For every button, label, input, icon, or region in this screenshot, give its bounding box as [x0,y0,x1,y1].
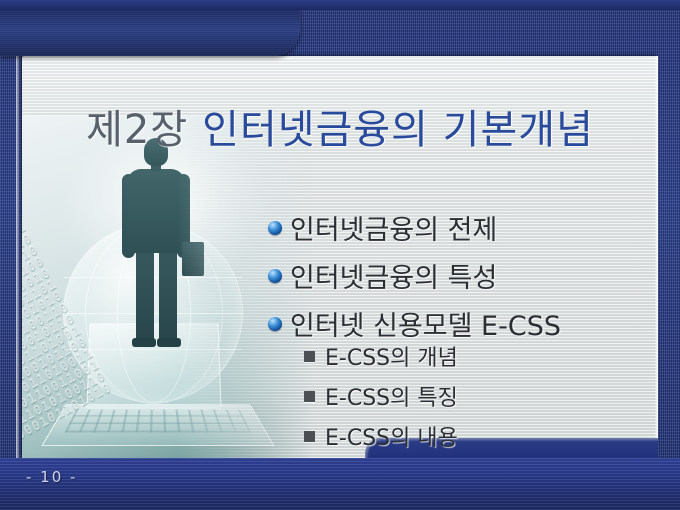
presentation-slide: 제1호 인터넷금융벤처-주) ## [0,0,680,510]
gray-square-bullet-icon [304,391,315,402]
blue-sphere-bullet-icon [268,269,282,283]
list-item[interactable]: 인터넷금융의 전제 [268,208,668,247]
gray-square-bullet-icon [304,351,315,362]
page-number: - 10 - [26,468,77,486]
bullet-list: 인터넷금융의 전제 인터넷금융의 특성 인터넷 신용모델 E-CSS [268,208,668,352]
list-item-label: 인터넷 신용모델 E-CSS [290,304,561,343]
blue-sphere-bullet-icon [268,317,282,331]
list-item[interactable]: E-CSS의 개념 [304,340,680,372]
list-item-label: 인터넷금융의 전제 [290,208,497,247]
blue-sphere-bullet-icon [268,221,282,235]
page-title-chapter: 제2장 [86,97,188,155]
slide-footer-bar [0,458,680,510]
list-item[interactable]: 인터넷금융의 특성 [268,256,668,295]
page-title: 제2장 인터넷금융의 기본개념 [22,94,658,158]
page-title-subject: 인터넷금융의 기본개념 [202,97,594,155]
sub-bullet-list: E-CSS의 개념 E-CSS의 특징 E-CSS의 내용 [304,340,680,460]
list-item[interactable]: E-CSS의 특징 [304,380,680,412]
list-item[interactable]: 인터넷 신용모델 E-CSS [268,304,668,343]
frame-top-strip [0,0,680,10]
briefcase-icon [182,242,204,276]
gray-square-bullet-icon [304,431,315,442]
slide-header-band [0,8,300,56]
list-item-label: 인터넷금융의 특성 [290,256,497,295]
list-item[interactable]: E-CSS의 내용 [304,420,680,452]
list-item-label: E-CSS의 개념 [325,340,458,372]
list-item-label: E-CSS의 내용 [325,420,458,452]
frame-left-highlight [16,0,20,510]
list-item-label: E-CSS의 특징 [325,380,458,412]
